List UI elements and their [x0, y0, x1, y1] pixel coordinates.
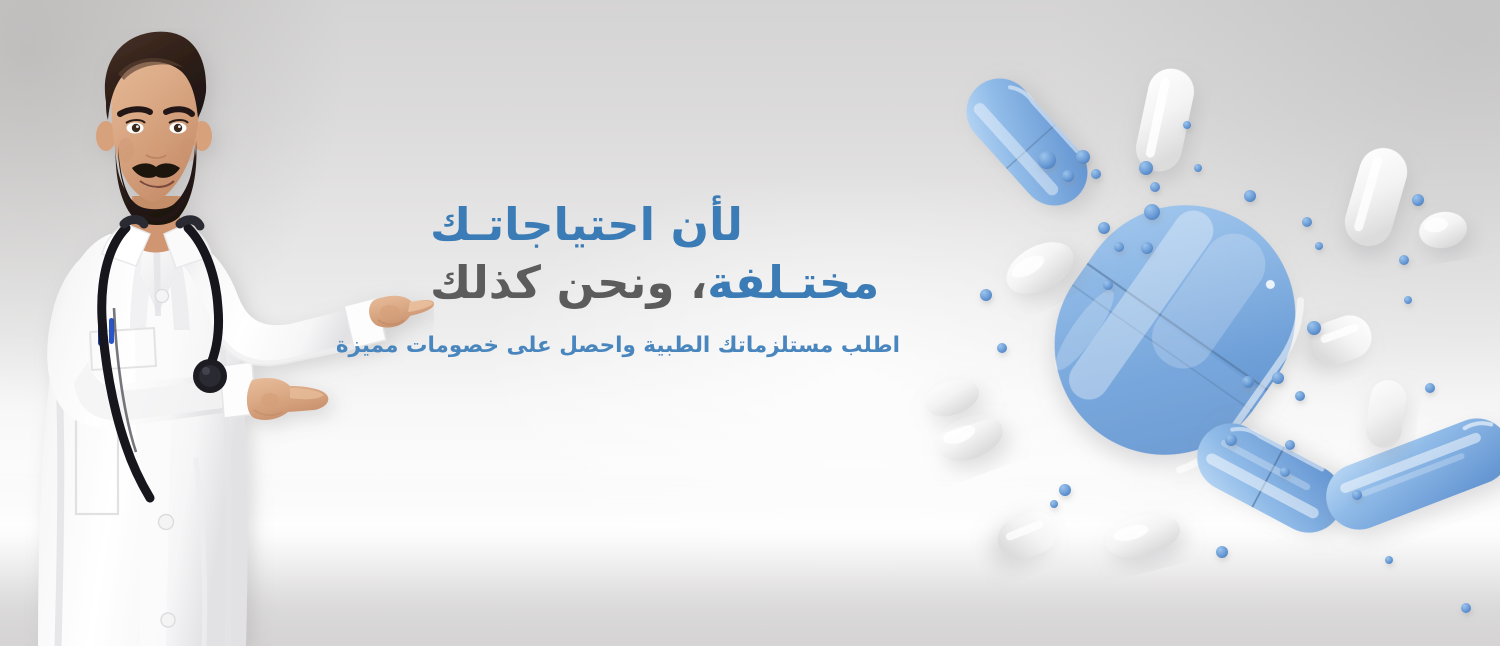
promo-banner: لأن احتياجاتـك مختـلفة، ونحن كذلك اطلب م… [0, 0, 1500, 646]
headline-line2-blue: مختـلفة [707, 256, 879, 309]
banner-copy: لأن احتياجاتـك مختـلفة، ونحن كذلك اطلب م… [430, 196, 900, 358]
headline-line2-gray: ، ونحن كذلك [430, 256, 707, 309]
banner-subtitle: اطلب مستلزماتك الطبية واحصل على خصومات م… [430, 333, 900, 358]
headline-line1: لأن احتياجاتـك [430, 198, 743, 251]
page-title: لأن احتياجاتـك مختـلفة، ونحن كذلك [430, 196, 900, 311]
